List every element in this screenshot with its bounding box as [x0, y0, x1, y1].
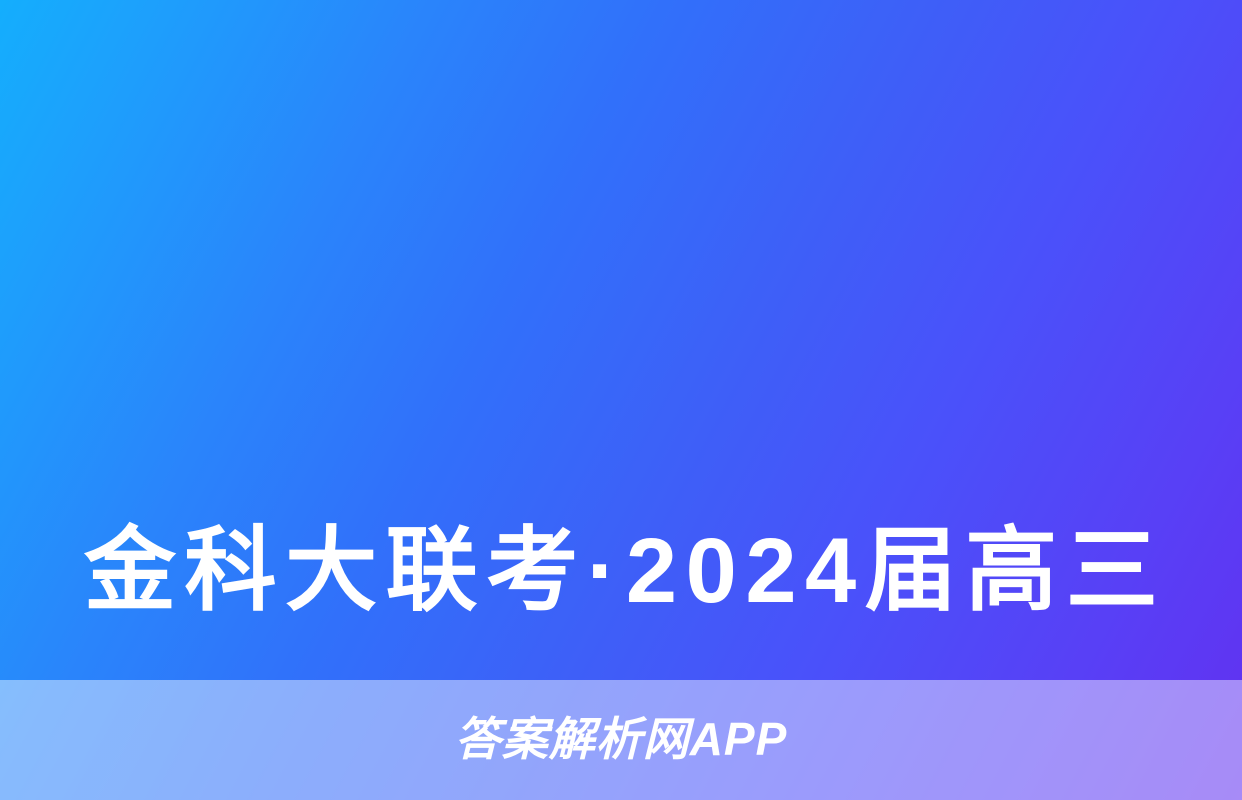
title-glyph: ·: [587, 494, 618, 648]
title-glyph: 高: [965, 494, 1057, 648]
title-glyph: 0: [686, 494, 737, 648]
title-glyph: 届: [865, 494, 957, 648]
title-glyph: 联: [386, 494, 478, 648]
title-glyph: 金: [84, 494, 176, 648]
watermark-label: 答案解析网APP: [0, 704, 1242, 768]
title-glyph: 三: [1066, 494, 1158, 648]
poster-canvas: 金科大联考·2024届高三 年级2月质量检测理科综 合A试题 答案解析网APP: [0, 0, 1242, 800]
title-glyph: 科: [185, 494, 277, 648]
title-glyph: 大: [285, 494, 377, 648]
title-glyph: 4: [805, 494, 856, 648]
title-glyph: 2: [626, 494, 677, 648]
title-glyph: 2: [745, 494, 796, 648]
title-glyph: 考: [486, 494, 578, 648]
title-line-1: 金科大联考·2024届高三: [84, 494, 1158, 648]
